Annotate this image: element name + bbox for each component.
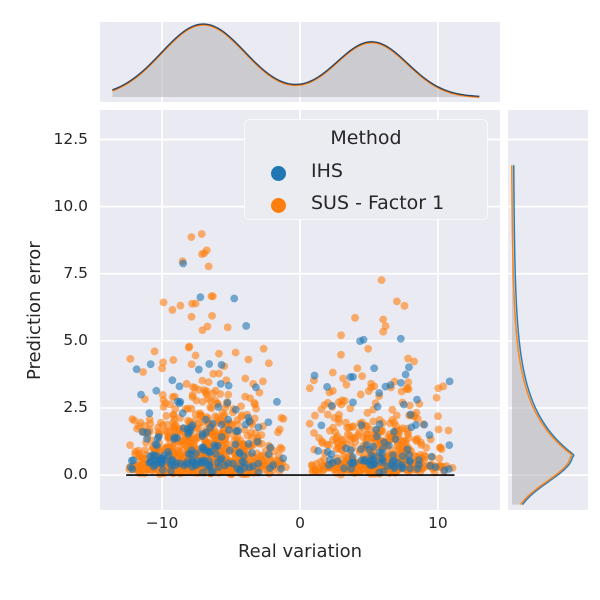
marginal-y-panel [508,110,588,510]
y-axis-label: Prediction error [26,241,44,380]
legend-box[interactable]: Method IHS SUS - Factor 1 [245,120,487,219]
legend-item-sus-factor-1[interactable]: SUS - Factor 1 [245,193,487,223]
legend-title: Method [245,129,487,148]
legend-item-ihs[interactable]: IHS [245,161,487,191]
x-tick-label: 0 [270,516,330,532]
marginal-x-panel [100,22,500,102]
x-tick-label: 10 [408,516,468,532]
y-tick-label: 2.5 [30,400,88,416]
legend-label: IHS [311,161,343,182]
y-tick-label: 12.5 [30,132,88,148]
jointplot-figure: 0.02.55.07.510.012.5 −10010 Prediction e… [0,0,600,600]
marginal-y-fill [512,164,573,505]
legend-marker-icon [271,166,286,181]
marginal-x-kde [100,22,500,102]
y-tick-label: 10.0 [30,199,88,215]
marginal-y-kde [508,110,588,510]
x-axis-label: Real variation [0,543,600,561]
legend-label: SUS - Factor 1 [311,193,444,214]
y-tick-label: 0.0 [30,467,88,483]
legend-marker-icon [271,198,286,213]
x-tick-label: −10 [132,516,192,532]
